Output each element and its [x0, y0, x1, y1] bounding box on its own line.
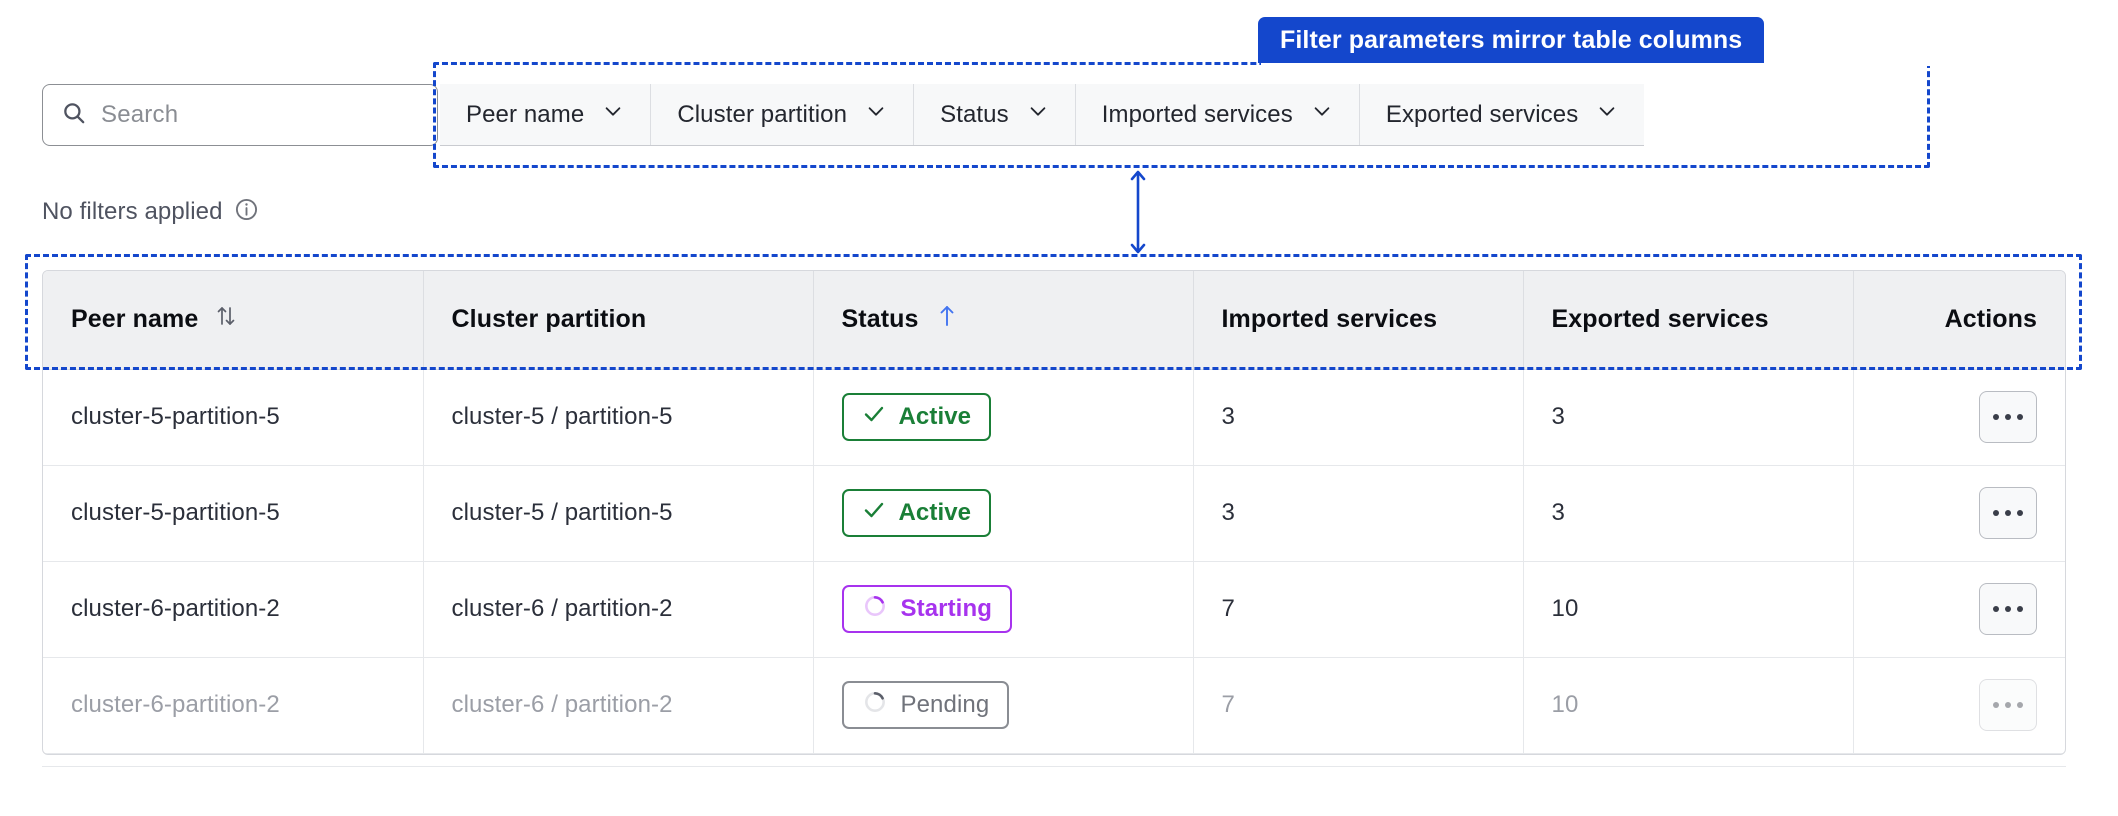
table-header-row: Peer name Cluster parti [43, 271, 2065, 369]
check-icon [862, 402, 886, 433]
cell-exported-services: 10 [1523, 561, 1853, 657]
filter-imported-services-label: Imported services [1102, 101, 1293, 129]
status-badge-label: Active [899, 499, 972, 527]
sort-updown-icon[interactable] [214, 303, 238, 336]
row-actions-button[interactable] [1979, 583, 2037, 635]
filter-cluster-partition-label: Cluster partition [677, 101, 847, 129]
kebab-icon [2005, 510, 2011, 516]
chevron-down-icon [1027, 100, 1049, 129]
row-actions-button[interactable] [1979, 679, 2037, 731]
status-badge: Active [842, 489, 992, 537]
cell-exported-services: 10 [1523, 657, 1853, 753]
cell-status: Active [813, 369, 1193, 465]
table-row[interactable]: cluster-6-partition-2 cluster-6 / partit… [43, 561, 2065, 657]
status-badge: Active [842, 393, 992, 441]
cell-peer-name: cluster-5-partition-5 [43, 465, 423, 561]
peers-table: Peer name Cluster parti [42, 270, 2066, 755]
filter-cluster-partition[interactable]: Cluster partition [651, 84, 914, 145]
kebab-icon [1993, 510, 1999, 516]
cell-status: Pending [813, 657, 1193, 753]
kebab-icon [2005, 414, 2011, 420]
cell-peer-name: cluster-6-partition-2 [43, 561, 423, 657]
cell-cluster-partition: cluster-5 / partition-5 [423, 369, 813, 465]
column-header-status[interactable]: Status [813, 271, 1193, 369]
column-header-peer-name[interactable]: Peer name [43, 271, 423, 369]
kebab-icon [2005, 702, 2011, 708]
column-header-cluster-partition-label: Cluster partition [452, 305, 647, 334]
arrow-up-icon[interactable] [935, 303, 959, 336]
cell-imported-services: 3 [1193, 465, 1523, 561]
kebab-icon [1993, 414, 1999, 420]
spinner-icon [862, 689, 888, 722]
row-actions-button[interactable] [1979, 487, 2037, 539]
cell-imported-services: 7 [1193, 657, 1523, 753]
cell-exported-services: 3 [1523, 369, 1853, 465]
check-icon [862, 498, 886, 529]
spinner-icon [862, 593, 888, 626]
status-badge: Starting [842, 585, 1012, 633]
table-row[interactable]: cluster-5-partition-5 cluster-5 / partit… [43, 465, 2065, 561]
filters-status: No filters applied [42, 197, 259, 227]
search-input[interactable]: Search [42, 84, 438, 146]
status-badge-label: Starting [901, 595, 992, 623]
table-row[interactable]: cluster-5-partition-5 cluster-5 / partit… [43, 369, 2065, 465]
kebab-icon [2005, 606, 2011, 612]
chevron-down-icon [1311, 100, 1333, 129]
kebab-icon [2017, 702, 2023, 708]
filter-exported-services-label: Exported services [1386, 101, 1578, 129]
peers-table-element: Peer name Cluster parti [43, 271, 2065, 754]
cell-peer-name: cluster-5-partition-5 [43, 369, 423, 465]
kebab-icon [2017, 414, 2023, 420]
filter-exported-services[interactable]: Exported services [1360, 84, 1644, 145]
filter-peer-name-label: Peer name [466, 101, 584, 129]
cell-exported-services: 3 [1523, 465, 1853, 561]
status-badge-label: Active [899, 403, 972, 431]
chevron-down-icon [1596, 100, 1618, 129]
callout-badge: Filter parameters mirror table columns [1258, 17, 1764, 63]
status-badge: Pending [842, 681, 1010, 729]
search-icon [61, 100, 87, 131]
table-row[interactable]: cluster-6-partition-2 cluster-6 / partit… [43, 657, 2065, 753]
search-placeholder: Search [101, 101, 178, 129]
status-badge-label: Pending [901, 691, 990, 719]
kebab-icon [1993, 702, 1999, 708]
column-header-status-label: Status [842, 305, 919, 334]
chevron-down-icon [865, 100, 887, 129]
cell-status: Starting [813, 561, 1193, 657]
column-header-actions: Actions [1853, 271, 2065, 369]
cell-actions [1853, 369, 2065, 465]
table-toolbar: Search Peer name Cluster partition Statu… [42, 84, 1644, 146]
filter-imported-services[interactable]: Imported services [1076, 84, 1360, 145]
filter-button-group: Peer name Cluster partition Status [440, 84, 1644, 146]
cell-cluster-partition: cluster-5 / partition-5 [423, 465, 813, 561]
kebab-icon [2017, 510, 2023, 516]
column-header-imported-services-label: Imported services [1222, 305, 1438, 334]
kebab-icon [1993, 606, 1999, 612]
column-header-exported-services[interactable]: Exported services [1523, 271, 1853, 369]
column-header-cluster-partition[interactable]: Cluster partition [423, 271, 813, 369]
filter-peer-name[interactable]: Peer name [440, 84, 651, 145]
filters-status-label: No filters applied [42, 198, 223, 226]
row-actions-button[interactable] [1979, 391, 2037, 443]
column-header-actions-label: Actions [1945, 305, 2037, 334]
chevron-down-icon [602, 100, 624, 129]
cell-imported-services: 7 [1193, 561, 1523, 657]
column-header-exported-services-label: Exported services [1552, 305, 1769, 334]
cell-imported-services: 3 [1193, 369, 1523, 465]
callout-connector-arrow [1126, 170, 1150, 254]
cell-peer-name: cluster-6-partition-2 [43, 657, 423, 753]
filter-status-label: Status [940, 101, 1009, 129]
cell-status: Active [813, 465, 1193, 561]
table-bottom-divider [42, 766, 2066, 767]
column-header-peer-name-label: Peer name [71, 305, 198, 334]
cell-actions [1853, 465, 2065, 561]
column-header-imported-services[interactable]: Imported services [1193, 271, 1523, 369]
cell-cluster-partition: cluster-6 / partition-2 [423, 657, 813, 753]
cell-actions [1853, 561, 2065, 657]
callout-badge-label: Filter parameters mirror table columns [1280, 26, 1742, 55]
info-icon[interactable] [234, 197, 259, 227]
cell-actions [1853, 657, 2065, 753]
filter-status[interactable]: Status [914, 84, 1076, 145]
cell-cluster-partition: cluster-6 / partition-2 [423, 561, 813, 657]
kebab-icon [2017, 606, 2023, 612]
